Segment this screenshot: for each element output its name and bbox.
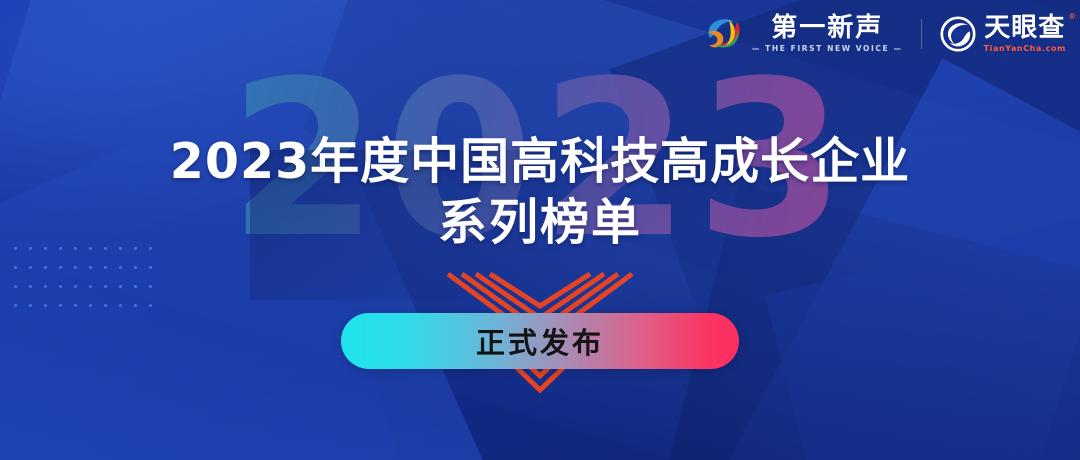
tianyancha-domain: TianYanCha.com	[984, 44, 1066, 53]
first-new-voice-wordmark: 第一新声 — THE FIRST NEW VOICE —	[752, 15, 903, 53]
tianyancha-name-cn: 天眼查	[984, 15, 1065, 42]
logo-divider	[921, 19, 922, 49]
logo-row: 第一新声 — THE FIRST NEW VOICE — ® 天眼查 TianY…	[704, 14, 1066, 54]
tianyancha-wordmark: ® 天眼查 TianYanCha.com	[984, 15, 1066, 52]
first-new-voice-tagline: — THE FIRST NEW VOICE —	[752, 44, 903, 53]
headline-line-2: 系列榜单	[0, 197, 1080, 250]
registered-trademark-icon: ®	[1069, 12, 1075, 21]
logo-first-new-voice[interactable]: 第一新声 — THE FIRST NEW VOICE —	[704, 14, 903, 54]
background-facet-bottom-left	[0, 66, 519, 460]
release-cta-label: 正式发布	[476, 320, 604, 362]
release-cta-button[interactable]: 正式发布	[341, 313, 739, 369]
camera-eye-icon	[940, 16, 976, 52]
first-new-voice-name-cn: 第一新声	[771, 15, 883, 42]
promo-banner: 2023 第一新声 — THE FIRST NEW VOICE —	[0, 0, 1080, 460]
logo-tianyancha[interactable]: ® 天眼查 TianYanCha.com	[940, 15, 1066, 52]
swirl-ribbon-icon	[704, 14, 744, 54]
background-facet-right-b	[698, 58, 1080, 460]
page-title: 2023年度中国高科技高成长企业 系列榜单	[0, 136, 1080, 250]
background-facet-right-c	[765, 214, 1080, 460]
headline-line-1: 2023年度中国高科技高成长企业	[0, 136, 1080, 189]
